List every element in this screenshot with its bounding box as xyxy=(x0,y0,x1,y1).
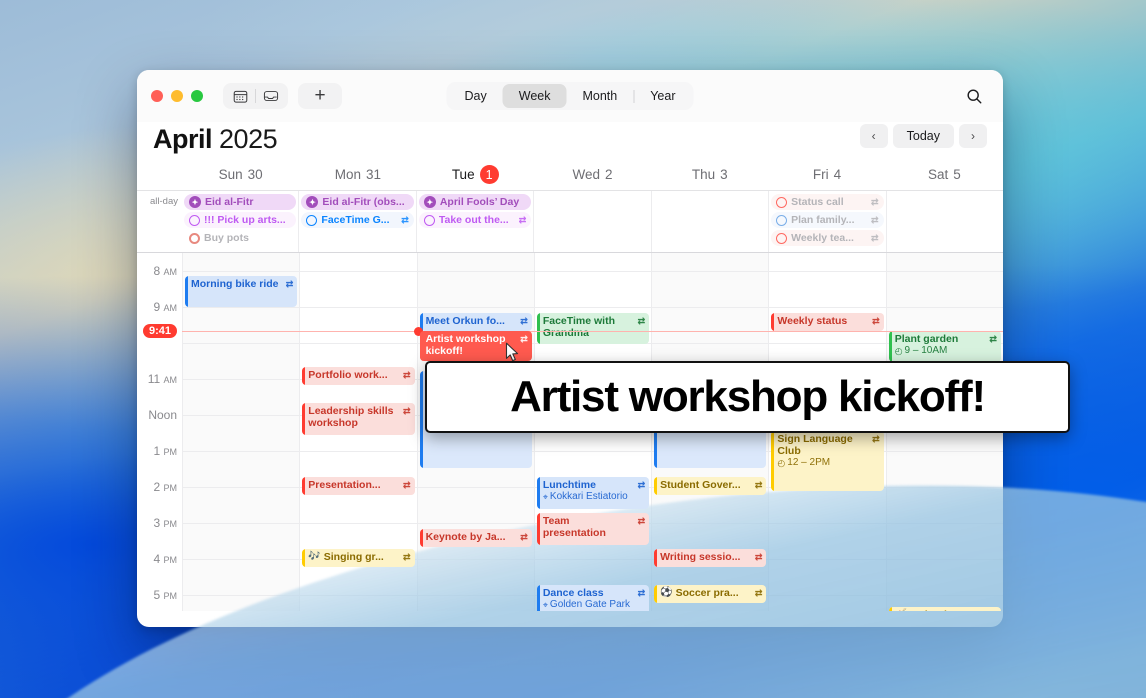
all-day-event[interactable]: ✦Eid al-Fitr xyxy=(184,194,296,210)
all-day-event[interactable]: Status call⇄ xyxy=(771,194,883,210)
event-title-row: ⚽Soccer pra...⇄ xyxy=(660,587,762,599)
event-title-row: Leadership skills workshop⇄ xyxy=(308,405,410,429)
event-title: Sign Language Club xyxy=(777,433,869,457)
repeat-icon: ⇄ xyxy=(638,479,646,490)
calendar-event[interactable]: Presentation...⇄ xyxy=(302,477,414,495)
hour-gridline xyxy=(769,559,885,560)
day-name: Tue xyxy=(452,167,475,182)
all-day-event[interactable]: ✦Eid al-Fitr (obs... xyxy=(301,194,413,210)
day-name: Thu xyxy=(692,167,715,182)
all-day-event[interactable]: Buy pots xyxy=(184,230,296,246)
clock-icon: ◴ xyxy=(895,346,903,356)
repeat-icon: ⇄ xyxy=(638,515,646,526)
day-header-sun[interactable]: Sun30 xyxy=(182,165,299,190)
time-label: 4 PM xyxy=(153,552,177,566)
event-title-row: 🎸Guitar lessons with S⇄ xyxy=(895,609,997,611)
day-number: 5 xyxy=(953,167,961,182)
hour-gridline xyxy=(418,523,534,524)
hour-gridline xyxy=(535,451,651,452)
event-color-bar xyxy=(889,607,892,611)
all-day-event-title: Plan family... xyxy=(791,214,867,226)
repeat-icon: ⇄ xyxy=(871,215,879,226)
current-time-line xyxy=(182,331,1003,332)
all-day-event[interactable]: Take out the...⇄ xyxy=(419,212,531,228)
calendar-header: April 2025 ‹ Today › xyxy=(137,122,1003,165)
all-day-column-2[interactable]: ✦April Fools’ DayTake out the...⇄ xyxy=(416,191,533,252)
minimize-button[interactable] xyxy=(171,90,183,102)
tab-year[interactable]: Year xyxy=(634,84,691,108)
hour-gridline xyxy=(183,559,299,560)
day-header-sat[interactable]: Sat5 xyxy=(886,165,1003,190)
event-title: Portfolio work... xyxy=(308,369,400,381)
repeat-icon: ⇄ xyxy=(401,215,409,226)
event-title-row: Plant garden⇄ xyxy=(895,333,997,345)
hour-gridline xyxy=(183,379,299,380)
tab-week[interactable]: Week xyxy=(503,84,567,108)
all-day-label: all-day xyxy=(137,191,182,252)
event-emoji-icon: ⚽ xyxy=(660,587,672,599)
time-label: 2 PM xyxy=(153,480,177,494)
time-label: 1 PM xyxy=(153,444,177,458)
date-navigation: ‹ Today › xyxy=(860,124,987,148)
hour-gridline xyxy=(300,343,416,344)
calendar-event[interactable]: Keynote by Ja...⇄ xyxy=(420,529,532,547)
hour-gridline xyxy=(887,523,1003,524)
hour-gridline xyxy=(183,523,299,524)
hour-gridline xyxy=(183,415,299,416)
calendar-event[interactable]: 🎸Guitar lessons with S⇄ xyxy=(889,607,1001,611)
all-day-column-5[interactable]: Status call⇄Plan family...⇄Weekly tea...… xyxy=(768,191,885,252)
event-title-row: Portfolio work...⇄ xyxy=(308,369,410,381)
calendar-event[interactable]: Leadership skills workshop⇄ xyxy=(302,403,414,435)
repeat-icon: ⇄ xyxy=(403,479,411,490)
event-title: Writing sessio... xyxy=(660,551,752,563)
event-title-row: Meet Orkun fo...⇄ xyxy=(426,315,528,327)
hour-gridline xyxy=(887,595,1003,596)
day-number: 2 xyxy=(605,167,613,182)
event-title: Leadership skills workshop xyxy=(308,405,400,429)
event-time: ◴9 – 10AM xyxy=(895,345,997,357)
repeat-icon: ⇄ xyxy=(403,551,411,562)
reminder-checkbox-icon[interactable] xyxy=(776,215,787,226)
event-meta-text: Golden Gate Park xyxy=(550,599,630,611)
hour-gridline xyxy=(183,271,299,272)
calendar-event[interactable]: Lunchtime⇄⌖Kokkari Estiatorio xyxy=(537,477,649,509)
day-number: 3 xyxy=(720,167,728,182)
holiday-star-icon: ✦ xyxy=(424,196,436,208)
event-title: Dance class xyxy=(543,587,635,599)
calendar-event[interactable]: Morning bike ride⇄ xyxy=(185,276,297,307)
event-color-bar xyxy=(771,431,774,491)
time-label: 3 PM xyxy=(153,516,177,530)
tab-day[interactable]: Day xyxy=(449,84,503,108)
hour-gridline xyxy=(418,559,534,560)
event-color-bar xyxy=(302,367,305,385)
hour-gridline xyxy=(418,487,534,488)
event-title-row: FaceTime with Grandma⇄ xyxy=(543,315,645,339)
event-color-bar xyxy=(537,513,540,545)
event-color-bar xyxy=(654,585,657,603)
all-day-row: all-day ✦Eid al-Fitr!!! Pick up arts...B… xyxy=(137,191,1003,253)
day-number: 4 xyxy=(834,167,842,182)
view-switcher: Day Week Month Year xyxy=(447,82,694,110)
reminder-checkbox-icon[interactable] xyxy=(424,215,435,226)
all-day-event-title: Status call xyxy=(791,196,867,208)
repeat-icon: ⇄ xyxy=(520,333,528,344)
repeat-icon: ⇄ xyxy=(638,587,646,598)
page-title: April 2025 xyxy=(153,124,277,155)
close-button[interactable] xyxy=(151,90,163,102)
time-label: 11 AM xyxy=(148,372,177,386)
event-title: Soccer pra... xyxy=(676,587,752,599)
event-title: Guitar lessons with S xyxy=(910,609,986,611)
window-titlebar: + Day Week Month Year xyxy=(137,70,1003,122)
hour-gridline xyxy=(535,271,651,272)
hour-gridline xyxy=(887,307,1003,308)
all-day-event-title: Eid al-Fitr xyxy=(205,196,291,208)
all-day-event-title: Eid al-Fitr (obs... xyxy=(322,196,408,208)
all-day-event[interactable]: Weekly tea...⇄ xyxy=(771,230,883,246)
hour-gridline xyxy=(183,451,299,452)
repeat-icon: ⇄ xyxy=(755,479,763,490)
calendar-window: + Day Week Month Year April 2025 ‹ xyxy=(137,70,1003,627)
calendar-event[interactable]: FaceTime with Grandma⇄ xyxy=(537,313,649,344)
location-pin-icon: ⌖ xyxy=(543,600,548,610)
day-header-fri[interactable]: Fri4 xyxy=(768,165,885,190)
day-header-row: Sun30Mon31Tue1Wed2Thu3Fri4Sat5 xyxy=(137,165,1003,191)
calendar-icon[interactable] xyxy=(225,84,255,108)
location-pin-icon: ⌖ xyxy=(543,492,548,502)
reminder-checkbox-icon[interactable] xyxy=(306,215,317,226)
all-day-event[interactable]: ✦April Fools’ Day xyxy=(419,194,531,210)
traffic-lights xyxy=(151,90,203,102)
repeat-icon: ⇄ xyxy=(520,315,528,326)
event-title-row: Sign Language Club⇄ xyxy=(777,433,879,457)
event-color-bar xyxy=(537,477,540,509)
hour-gridline xyxy=(887,487,1003,488)
calendar-event[interactable]: ⚽Soccer pra...⇄ xyxy=(654,585,766,603)
hour-gridline xyxy=(887,559,1003,560)
hour-gridline xyxy=(418,271,534,272)
all-day-event-title: April Fools’ Day xyxy=(440,196,526,208)
hour-gridline xyxy=(652,271,768,272)
toolbar-view-group xyxy=(223,83,288,109)
hour-gridline xyxy=(183,343,299,344)
day-header-thu[interactable]: Thu3 xyxy=(651,165,768,190)
title-year: 2025 xyxy=(219,124,277,154)
event-color-bar xyxy=(537,585,540,611)
day-name: Sun xyxy=(219,167,243,182)
hour-gridline xyxy=(300,271,416,272)
day-number: 31 xyxy=(366,167,381,182)
event-title-row: Writing sessio...⇄ xyxy=(660,551,762,563)
event-meta-text: 12 – 2PM xyxy=(787,457,830,469)
event-title: Weekly status xyxy=(777,315,869,327)
hour-gridline xyxy=(652,523,768,524)
hour-gridline xyxy=(769,271,885,272)
event-title: Meet Orkun fo... xyxy=(426,315,518,327)
event-title-row: Dance class⇄ xyxy=(543,587,645,599)
event-meta-text: 9 – 10AM xyxy=(905,345,948,357)
calendar-event[interactable]: 🎶Singing gr...⇄ xyxy=(302,549,414,567)
repeat-icon: ⇄ xyxy=(286,278,294,289)
time-label: Noon xyxy=(148,408,177,422)
all-day-column-1[interactable]: ✦Eid al-Fitr (obs...FaceTime G...⇄ xyxy=(298,191,415,252)
hour-gridline xyxy=(769,307,885,308)
event-location: ⌖Kokkari Estiatorio xyxy=(543,491,645,503)
event-color-bar xyxy=(537,313,540,344)
event-color-bar xyxy=(420,331,423,361)
day-header-wed[interactable]: Wed2 xyxy=(534,165,651,190)
event-color-bar xyxy=(420,529,423,547)
repeat-icon: ⇄ xyxy=(872,315,880,326)
calendar-event[interactable]: Student Gover...⇄ xyxy=(654,477,766,495)
add-event-button[interactable]: + xyxy=(298,83,342,109)
repeat-icon: ⇄ xyxy=(989,333,997,344)
repeat-icon: ⇄ xyxy=(638,315,646,326)
all-day-column-0[interactable]: ✦Eid al-Fitr!!! Pick up arts...Buy pots xyxy=(182,191,298,252)
event-color-bar xyxy=(302,477,305,495)
calendar-event[interactable]: Sign Language Club⇄◴12 – 2PM xyxy=(771,431,883,491)
desktop-wallpaper: + Day Week Month Year April 2025 ‹ xyxy=(0,0,1146,698)
repeat-icon: ⇄ xyxy=(403,405,411,416)
event-title-row: Weekly status⇄ xyxy=(777,315,879,327)
event-color-bar xyxy=(889,331,892,362)
day-column-mon[interactable]: Portfolio work...⇄Leadership skills work… xyxy=(299,253,416,611)
calendar-event[interactable]: Plant garden⇄◴9 – 10AM xyxy=(889,331,1001,362)
repeat-icon: ⇄ xyxy=(519,215,527,226)
event-title-row: Student Gover...⇄ xyxy=(660,479,762,491)
header-gutter-spacer xyxy=(137,165,182,190)
reminder-checkbox-icon[interactable] xyxy=(776,197,787,208)
event-emoji-icon: 🎶 xyxy=(308,551,320,563)
event-meta-text: Kokkari Estiatorio xyxy=(550,491,628,503)
inbox-icon[interactable] xyxy=(256,84,286,108)
time-label: 8 AM xyxy=(153,264,177,278)
event-color-bar xyxy=(654,477,657,495)
all-day-event-title: Weekly tea... xyxy=(791,232,867,244)
event-color-bar xyxy=(185,276,188,307)
day-header-tue[interactable]: Tue1 xyxy=(417,165,534,190)
event-location: ⌖Golden Gate Park xyxy=(543,599,645,611)
event-color-bar xyxy=(771,313,774,331)
repeat-icon: ⇄ xyxy=(871,233,879,244)
event-emoji-icon: 🎸 xyxy=(895,609,907,611)
day-header-mon[interactable]: Mon31 xyxy=(299,165,416,190)
calendar-event[interactable]: Meet Orkun fo...⇄ xyxy=(420,313,532,331)
hour-gridline xyxy=(418,307,534,308)
repeat-icon: ⇄ xyxy=(403,369,411,380)
day-name: Fri xyxy=(813,167,829,182)
all-day-event[interactable]: Plan family...⇄ xyxy=(771,212,883,228)
all-day-column-6[interactable] xyxy=(886,191,1003,252)
reminder-checkbox-icon[interactable] xyxy=(776,233,787,244)
event-title: Artist workshop kickoff! xyxy=(426,333,518,357)
hour-gridline xyxy=(183,307,299,308)
event-color-bar xyxy=(420,371,423,468)
search-icon[interactable] xyxy=(959,81,989,111)
today-date-badge: 1 xyxy=(480,165,499,184)
today-button[interactable]: Today xyxy=(893,124,954,148)
day-name: Wed xyxy=(572,167,600,182)
repeat-icon: ⇄ xyxy=(989,609,997,611)
event-title: Team presentation xyxy=(543,515,635,539)
time-label: 5 PM xyxy=(153,588,177,602)
time-label: 9 AM xyxy=(153,300,177,314)
hour-gridline xyxy=(887,451,1003,452)
title-month: April xyxy=(153,124,212,154)
calendar-event[interactable]: Weekly status⇄ xyxy=(771,313,883,331)
calendar-event[interactable]: Writing sessio...⇄ xyxy=(654,549,766,567)
hour-gridline xyxy=(183,595,299,596)
event-title-row: 🎶Singing gr...⇄ xyxy=(308,551,410,563)
repeat-icon: ⇄ xyxy=(755,587,763,598)
event-title: FaceTime with Grandma xyxy=(543,315,635,339)
event-title-row: Team presentation⇄ xyxy=(543,515,645,539)
event-title: Student Gover... xyxy=(660,479,752,491)
hour-gridline xyxy=(652,307,768,308)
hour-gridline xyxy=(300,523,416,524)
all-day-event-title: !!! Pick up arts... xyxy=(204,214,291,226)
zoom-button[interactable] xyxy=(191,90,203,102)
event-color-bar xyxy=(302,403,305,435)
all-day-event-title: FaceTime G... xyxy=(321,214,397,226)
day-name: Mon xyxy=(335,167,361,182)
day-number: 30 xyxy=(248,167,263,182)
hour-gridline xyxy=(535,559,651,560)
repeat-icon: ⇄ xyxy=(755,551,763,562)
next-week-button[interactable]: › xyxy=(959,124,987,148)
all-day-event-title: Take out the... xyxy=(439,214,515,226)
tab-month[interactable]: Month xyxy=(566,84,633,108)
event-title-row: Lunchtime⇄ xyxy=(543,479,645,491)
reminder-checkbox-icon[interactable] xyxy=(189,215,200,226)
event-color-bar xyxy=(654,549,657,567)
holiday-star-icon: ✦ xyxy=(306,196,318,208)
repeat-icon: ⇄ xyxy=(871,197,879,208)
event-title-row: Keynote by Ja...⇄ xyxy=(426,531,528,543)
all-day-event[interactable]: !!! Pick up arts... xyxy=(184,212,296,228)
event-title: Lunchtime xyxy=(543,479,635,491)
hour-gridline xyxy=(183,487,299,488)
hour-gridline xyxy=(300,307,416,308)
all-day-event[interactable]: FaceTime G...⇄ xyxy=(301,212,413,228)
time-gutter: 8 AM9 AM11 AMNoon1 PM2 PM3 PM4 PM5 PM xyxy=(137,253,182,611)
hover-text-tooltip: Artist workshop kickoff! xyxy=(425,361,1070,433)
event-title: Keynote by Ja... xyxy=(426,531,518,543)
event-color-bar xyxy=(302,549,305,567)
event-title: Plant garden xyxy=(895,333,987,345)
current-time-badge: 9:41 xyxy=(143,324,177,338)
holiday-star-icon: ✦ xyxy=(189,196,201,208)
event-title-row: Presentation...⇄ xyxy=(308,479,410,491)
day-name: Sat xyxy=(928,167,948,182)
all-day-event-title: Buy pots xyxy=(204,232,291,244)
hour-gridline xyxy=(887,271,1003,272)
hour-gridline xyxy=(418,595,534,596)
clock-icon: ◴ xyxy=(777,458,785,468)
calendar-event[interactable]: Team presentation⇄ xyxy=(537,513,649,545)
event-title: Morning bike ride xyxy=(191,278,283,290)
hour-gridline xyxy=(535,307,651,308)
all-day-column-3[interactable] xyxy=(533,191,650,252)
event-title: Singing gr... xyxy=(324,551,400,563)
hour-gridline xyxy=(300,451,416,452)
hour-gridline xyxy=(300,595,416,596)
calendar-event[interactable]: Dance class⇄⌖Golden Gate Park◴4 – 5:30PM xyxy=(537,585,649,611)
hour-gridline xyxy=(769,523,885,524)
event-title-row: Morning bike ride⇄ xyxy=(191,278,293,290)
all-day-column-4[interactable] xyxy=(651,191,768,252)
hour-gridline xyxy=(769,343,885,344)
event-title: Presentation... xyxy=(308,479,400,491)
event-time: ◴12 – 2PM xyxy=(777,457,879,469)
repeat-icon: ⇄ xyxy=(872,433,880,444)
tooltip-text: Artist workshop kickoff! xyxy=(510,372,985,422)
reminder-completed-icon[interactable] xyxy=(189,233,200,244)
calendar-event[interactable]: Portfolio work...⇄ xyxy=(302,367,414,385)
day-column-sun[interactable]: Morning bike ride⇄ xyxy=(182,253,299,611)
hour-gridline xyxy=(769,595,885,596)
repeat-icon: ⇄ xyxy=(520,531,528,542)
prev-week-button[interactable]: ‹ xyxy=(860,124,888,148)
hour-gridline xyxy=(652,343,768,344)
